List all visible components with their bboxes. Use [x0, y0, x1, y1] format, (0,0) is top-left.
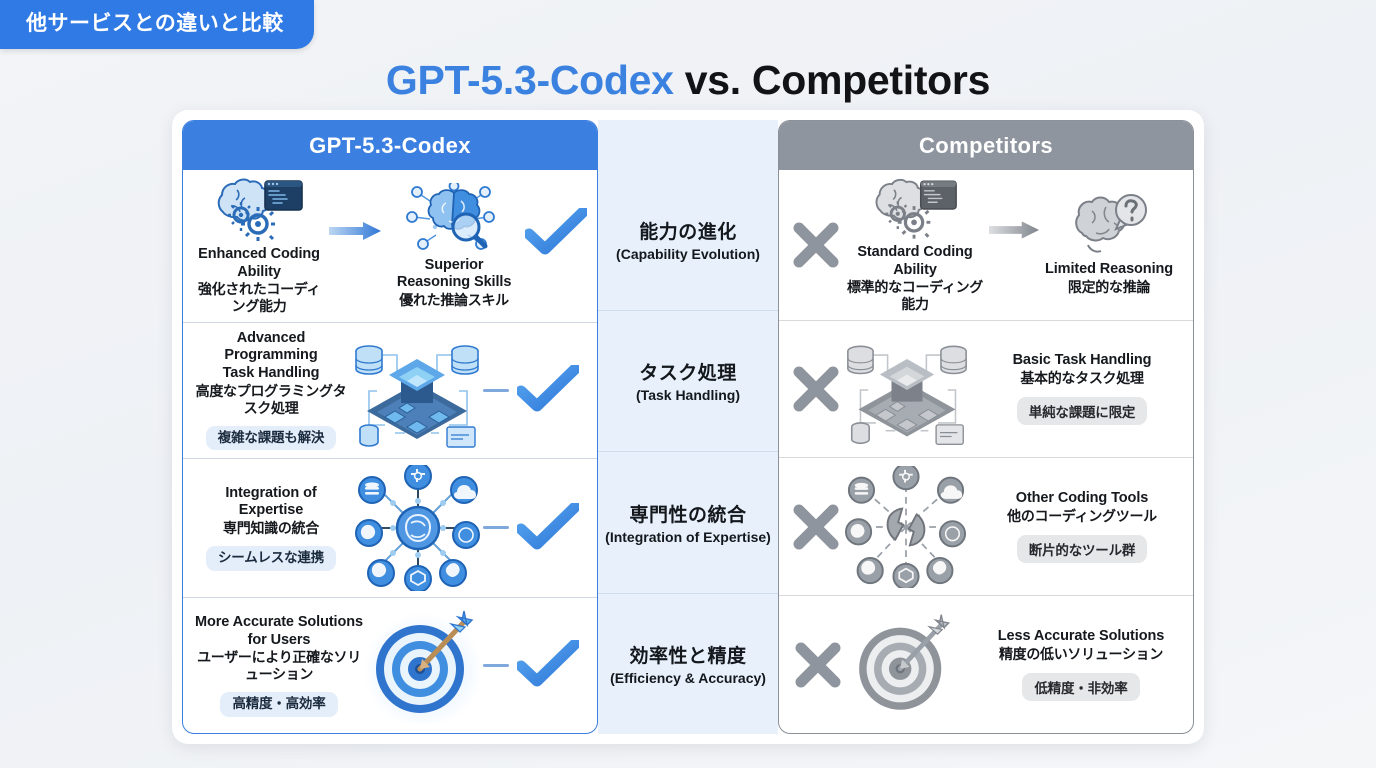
- comp-row4-badge: 低精度・非効率: [1022, 673, 1139, 701]
- x-icon: [791, 502, 841, 552]
- brain-code-icon: [871, 176, 959, 240]
- criteria-task-handling: タスク処理 (Task Handling): [598, 310, 778, 452]
- competitors-row-capability: Standard Coding Ability 標準的なコーディング能力: [779, 170, 1193, 320]
- gpt-row1-item-a-en: Enhanced Coding Ability: [193, 246, 325, 281]
- comp-row3-jp: 他のコーディングツール: [987, 506, 1177, 526]
- target-arrow-icon: [363, 607, 483, 723]
- page-title-accent: GPT-5.3-Codex: [386, 57, 674, 103]
- comp-row1-item-b-jp: 限定的な推論: [1045, 279, 1173, 296]
- gpt-row3-jp: 専門知識の統合: [193, 520, 349, 537]
- server-stack-icon: [843, 329, 971, 449]
- gpt-row4-en1: More Accurate Solutions: [193, 614, 365, 632]
- check-icon: [525, 208, 587, 258]
- criteria-capability-jp: 能力の進化: [639, 217, 737, 244]
- check-icon: [517, 365, 579, 415]
- criteria-integration-jp: 専門性の統合: [629, 500, 746, 527]
- competitors-column: Competitors: [778, 120, 1194, 734]
- gpt-row2-en2: Task Handling: [193, 365, 349, 383]
- comp-row1-item-b-en: Limited Reasoning: [1045, 261, 1173, 279]
- brain-question-icon: [1068, 193, 1150, 257]
- gpt-row1-item-a-jp: 強化されたコーディング能力: [193, 281, 325, 315]
- gpt-row3-badge: シームレスな連携: [206, 546, 336, 570]
- x-icon: [791, 220, 841, 270]
- x-icon: [793, 640, 843, 690]
- criteria-capability: 能力の進化 (Capability Evolution): [598, 169, 778, 310]
- page-title: GPT-5.3-Codex vs. Competitors: [0, 57, 1376, 104]
- criteria-integration: 専門性の統合 (Integration of Expertise): [598, 451, 778, 593]
- connector-dash: [483, 389, 509, 392]
- criteria-column-header-spacer: [598, 120, 778, 169]
- network-hub-icon: [353, 465, 483, 591]
- x-icon: [791, 364, 841, 414]
- criteria-capability-en: (Capability Evolution): [616, 246, 760, 262]
- criteria-task-handling-en: (Task Handling): [636, 387, 740, 403]
- criteria-efficiency: 効率性と精度 (Efficiency & Accuracy): [598, 593, 778, 735]
- competitors-row-integration: Other Coding Tools 他のコーディングツール 断片的なツール群: [779, 457, 1193, 595]
- comp-row1-item-a-en: Standard Coding Ability: [845, 244, 985, 279]
- criteria-task-handling-jp: タスク処理: [639, 358, 737, 385]
- gpt-column-header: GPT-5.3-Codex: [183, 121, 597, 170]
- target-arrow-icon: [847, 610, 959, 720]
- connector-dash: [483, 526, 509, 529]
- comp-row2-badge: 単純な課題に限定: [1017, 397, 1147, 425]
- section-tab: 他サービスとの違いと比較: [0, 0, 314, 49]
- connector-dash: [483, 664, 509, 667]
- gpt-row2-en1: Advanced Programming: [193, 330, 349, 365]
- gpt-row1-item-b-jp: 優れた推論スキル: [387, 292, 521, 309]
- criteria-column: 能力の進化 (Capability Evolution) タスク処理 (Task…: [598, 120, 778, 734]
- criteria-integration-en: (Integration of Expertise): [605, 529, 771, 545]
- network-broken-hub-icon: [843, 466, 969, 588]
- check-icon: [517, 640, 579, 690]
- gpt-column: GPT-5.3-Codex: [182, 120, 598, 734]
- arrow-right-icon: [989, 219, 1041, 241]
- gpt-row3-en: Integration of Expertise: [193, 485, 349, 520]
- comp-row4-jp: 精度の低いソリューション: [983, 644, 1179, 664]
- comp-row2-jp: 基本的なタスク処理: [987, 368, 1177, 388]
- section-tab-label: 他サービスとの違いと比較: [26, 12, 284, 35]
- competitors-row-task-handling: Basic Task Handling 基本的なタスク処理 単純な課題に限定: [779, 320, 1193, 458]
- gpt-column-header-label: GPT-5.3-Codex: [309, 133, 471, 159]
- comp-row3-en: Other Coding Tools: [987, 490, 1177, 506]
- competitors-row-accuracy: Less Accurate Solutions 精度の低いソリューション 低精度…: [779, 595, 1193, 733]
- gpt-row2-jp: 高度なプログラミングタスク処理: [193, 383, 349, 417]
- criteria-efficiency-jp: 効率性と精度: [629, 641, 746, 668]
- gpt-row-task-handling: Advanced Programming Task Handling 高度なプロ…: [183, 322, 597, 458]
- gpt-row1-item-b-en: Superior Reasoning Skills: [387, 257, 521, 292]
- competitors-column-header: Competitors: [779, 121, 1193, 170]
- comp-row1-item-a-jp: 標準的なコーディング能力: [845, 279, 985, 313]
- criteria-efficiency-en: (Efficiency & Accuracy): [610, 670, 766, 686]
- gpt-row4-en2: for Users: [193, 632, 365, 650]
- arrow-right-icon: [329, 220, 383, 242]
- competitors-column-header-label: Competitors: [919, 133, 1053, 159]
- gpt-row4-badge: 高精度・高効率: [220, 692, 337, 716]
- comp-row3-badge: 断片的なツール群: [1017, 535, 1147, 563]
- check-icon: [517, 503, 579, 553]
- brain-magnifier-icon: [406, 183, 502, 253]
- gpt-row-capability: Enhanced Coding Ability 強化されたコーディング能力: [183, 170, 597, 322]
- comp-row4-en: Less Accurate Solutions: [983, 628, 1179, 644]
- brain-code-icon: [213, 176, 305, 242]
- comparison-board: GPT-5.3-Codex: [172, 110, 1204, 744]
- gpt-row-integration: Integration of Expertise 専門知識の統合 シームレスな連…: [183, 458, 597, 597]
- gpt-row2-badge: 複雑な課題も解決: [206, 426, 336, 450]
- gpt-row-accuracy: More Accurate Solutions for Users ユーザーによ…: [183, 597, 597, 733]
- gpt-row4-jp: ユーザーにより正確なソリューション: [193, 649, 365, 683]
- server-stack-icon: [351, 329, 483, 451]
- comp-row2-en: Basic Task Handling: [987, 352, 1177, 368]
- page-title-plain: vs. Competitors: [674, 57, 990, 103]
